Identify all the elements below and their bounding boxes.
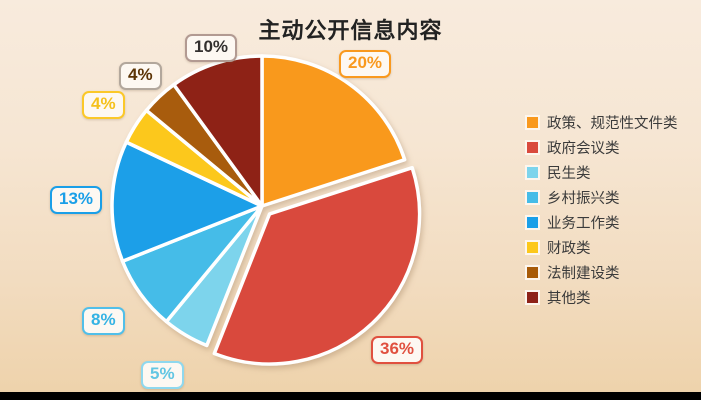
legend-item[interactable]: 法制建设类 xyxy=(527,260,695,285)
legend-item[interactable]: 政府会议类 xyxy=(527,135,695,160)
legend-item-label: 其他类 xyxy=(547,287,591,308)
legend-item-label: 业务工作类 xyxy=(547,212,620,233)
pie-data-label: 4% xyxy=(119,62,162,90)
legend-item[interactable]: 其他类 xyxy=(527,285,695,310)
legend-item-label: 法制建设类 xyxy=(547,262,620,283)
legend-item[interactable]: 业务工作类 xyxy=(527,210,695,235)
legend-color-swatch-icon xyxy=(527,242,538,253)
pie-data-label: 10% xyxy=(185,34,237,62)
legend-item[interactable]: 乡村振兴类 xyxy=(527,185,695,210)
legend-color-swatch-icon xyxy=(527,142,538,153)
pie-data-label: 13% xyxy=(50,186,102,214)
pie-plot-area: 20%36%5%8%13%4%4%10% xyxy=(0,38,520,378)
pie-chart-figure: 主动公开信息内容 20%36%5%8%13%4%4%10% 政策、规范性文件类政… xyxy=(0,0,701,400)
pie-data-label: 8% xyxy=(82,307,125,335)
pie-data-label: 36% xyxy=(371,336,423,364)
legend-color-swatch-icon xyxy=(527,292,538,303)
legend-item-label: 政府会议类 xyxy=(547,137,620,158)
legend-color-swatch-icon xyxy=(527,117,538,128)
legend-color-swatch-icon xyxy=(527,267,538,278)
legend-item[interactable]: 民生类 xyxy=(527,160,695,185)
legend-color-swatch-icon xyxy=(527,167,538,178)
legend-item-label: 政策、规范性文件类 xyxy=(547,112,678,133)
pie-data-label: 4% xyxy=(82,91,125,119)
legend-item-label: 财政类 xyxy=(547,237,591,258)
pie-slice-group xyxy=(112,56,420,364)
pie-data-label: 5% xyxy=(141,361,184,389)
legend-color-swatch-icon xyxy=(527,217,538,228)
pie-data-label: 20% xyxy=(339,50,391,78)
legend-color-swatch-icon xyxy=(527,192,538,203)
legend-item[interactable]: 政策、规范性文件类 xyxy=(527,110,695,135)
legend-item-label: 民生类 xyxy=(547,162,591,183)
bottom-border-bar xyxy=(0,392,701,400)
legend-item-label: 乡村振兴类 xyxy=(547,187,620,208)
legend-item[interactable]: 财政类 xyxy=(527,235,695,260)
legend: 政策、规范性文件类政府会议类民生类乡村振兴类业务工作类财政类法制建设类其他类 xyxy=(527,110,695,310)
